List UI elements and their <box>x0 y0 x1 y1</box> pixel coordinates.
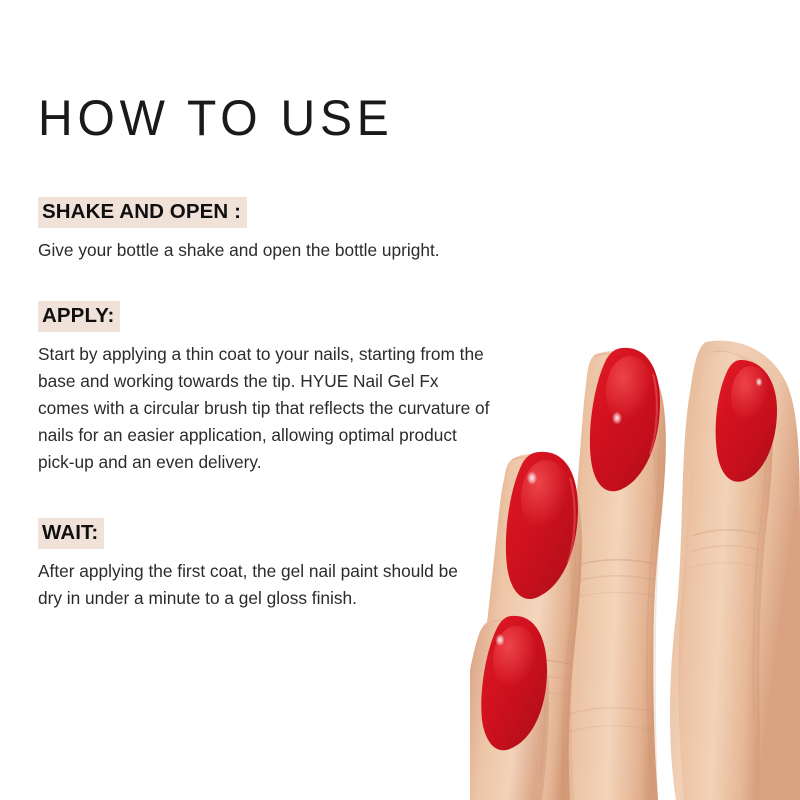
body-line: base and working towards the tip. HYUE N… <box>38 368 618 395</box>
body-line: nails for an easier application, allowin… <box>38 422 618 449</box>
section-heading-shake-and-open: SHAKE AND OPEN : <box>38 197 247 228</box>
section-heading-wait: WAIT: <box>38 518 104 549</box>
section-body-wait: After applying the first coat, the gel n… <box>38 558 618 612</box>
section-body-shake-and-open: Give your bottle a shake and open the bo… <box>38 237 618 264</box>
section-body-apply: Start by applying a thin coat to your na… <box>38 341 618 476</box>
body-line: After applying the first coat, the gel n… <box>38 558 618 585</box>
body-line: pick-up and an even delivery. <box>38 449 618 476</box>
nail-pinky <box>481 616 547 750</box>
body-line: Give your bottle a shake and open the bo… <box>38 237 618 264</box>
page-title: HOW TO USE <box>38 0 614 145</box>
body-line: Start by applying a thin coat to your na… <box>38 341 618 368</box>
section-wait: WAIT: After applying the first coat, the… <box>38 476 638 612</box>
section-heading-apply: APPLY: <box>38 301 120 332</box>
section-apply: APPLY: Start by applying a thin coat to … <box>38 264 638 476</box>
nail-index <box>716 360 777 482</box>
section-shake-and-open: SHAKE AND OPEN : Give your bottle a shak… <box>38 145 638 264</box>
body-line: dry in under a minute to a gel gloss fin… <box>38 585 618 612</box>
how-to-use-page: { "page": { "title": "HOW TO USE", "back… <box>0 0 800 800</box>
finger-pinky <box>470 616 549 800</box>
content-column: HOW TO USE SHAKE AND OPEN : Give your bo… <box>38 0 638 612</box>
body-line: comes with a circular brush tip that ref… <box>38 395 618 422</box>
finger-index <box>678 351 777 800</box>
hand-back <box>670 341 800 800</box>
